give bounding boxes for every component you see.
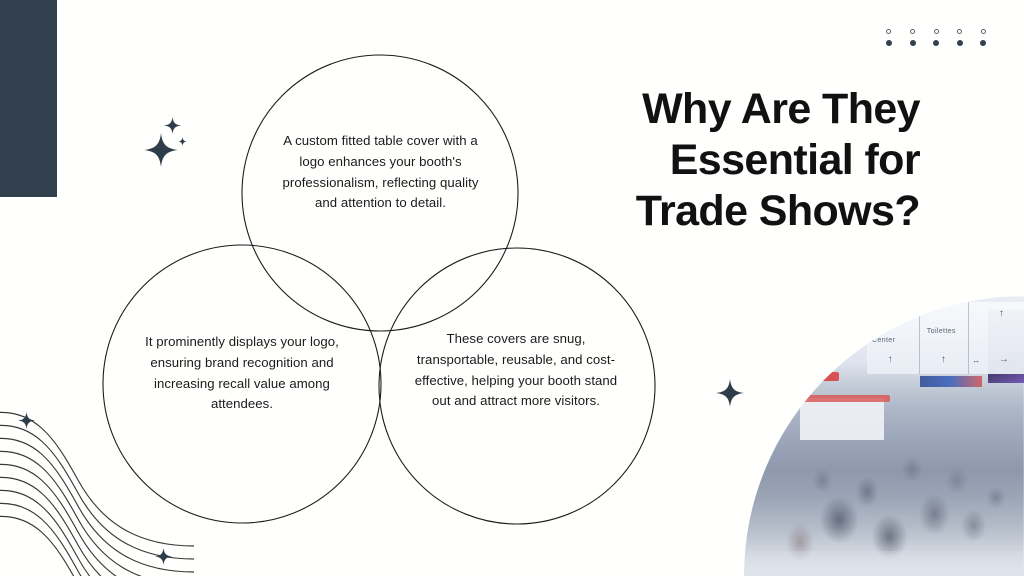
photo-booth-awning xyxy=(766,372,839,381)
sign-arrow-up-2: ↑ xyxy=(888,355,893,365)
photo-overhead-sign-panel: Center Toilettes ↑ ↑ ↑ ↔ → xyxy=(867,302,1024,375)
sparkle-wave-lower-icon xyxy=(155,548,172,565)
sign-divider xyxy=(968,302,969,375)
hollow-dot-icon xyxy=(934,29,939,34)
photo-booth-trim xyxy=(794,395,889,402)
sign-arrow-right: → xyxy=(999,355,1009,365)
photo-banner xyxy=(920,376,982,387)
trade-show-photo: Center Toilettes ↑ ↑ ↑ ↔ → xyxy=(744,296,1024,576)
sparkle-small-top-left-icon xyxy=(178,137,187,146)
sign-label-center: Center xyxy=(872,335,895,344)
solid-dot-icon xyxy=(886,40,892,46)
photo-booth-wall xyxy=(800,398,884,440)
hollow-dot-icon xyxy=(957,29,962,34)
hollow-dot-icon xyxy=(910,29,915,34)
photo-booth-sign xyxy=(778,382,809,389)
sparkle-mid-right-icon xyxy=(716,379,744,407)
page-title: Why Are They Essential for Trade Shows? xyxy=(500,84,920,237)
hollow-dot-icon xyxy=(981,29,986,34)
venn-circle-left-text: It prominently displays your logo, ensur… xyxy=(142,332,342,415)
sparkle-wave-upper-icon xyxy=(18,412,35,429)
dot-row-hollow xyxy=(886,26,986,37)
corner-accent-block xyxy=(0,0,57,197)
dot-grid-decoration xyxy=(886,26,986,48)
solid-dot-icon xyxy=(980,40,986,46)
sparkle-large-top-left-icon xyxy=(144,133,178,167)
page-title-line-1: Why Are They xyxy=(500,84,920,135)
sparkle-medium-top-left-icon xyxy=(164,117,181,134)
photo-floor xyxy=(744,551,1024,576)
solid-dot-icon xyxy=(910,40,916,46)
sign-arrow-up-3: ↑ xyxy=(941,355,946,365)
slide-canvas: Center Toilettes ↑ ↑ ↑ ↔ → A custom fitt… xyxy=(0,0,1024,576)
solid-dot-icon xyxy=(933,40,939,46)
sign-arrow-both-ways: ↔ xyxy=(972,357,980,365)
sign-divider xyxy=(919,302,920,375)
venn-circle-top-text: A custom fitted table cover with a logo … xyxy=(282,131,479,214)
venn-circle-right-text: These covers are snug, transportable, re… xyxy=(411,329,621,412)
sign-arrow-up-1: ↑ xyxy=(999,309,1004,319)
dot-row-solid xyxy=(886,37,986,48)
page-title-line-2: Essential for xyxy=(500,135,920,186)
page-title-line-3: Trade Shows? xyxy=(500,186,920,237)
hollow-dot-icon xyxy=(886,29,891,34)
solid-dot-icon xyxy=(957,40,963,46)
sign-label-toilettes: Toilettes xyxy=(927,326,956,335)
